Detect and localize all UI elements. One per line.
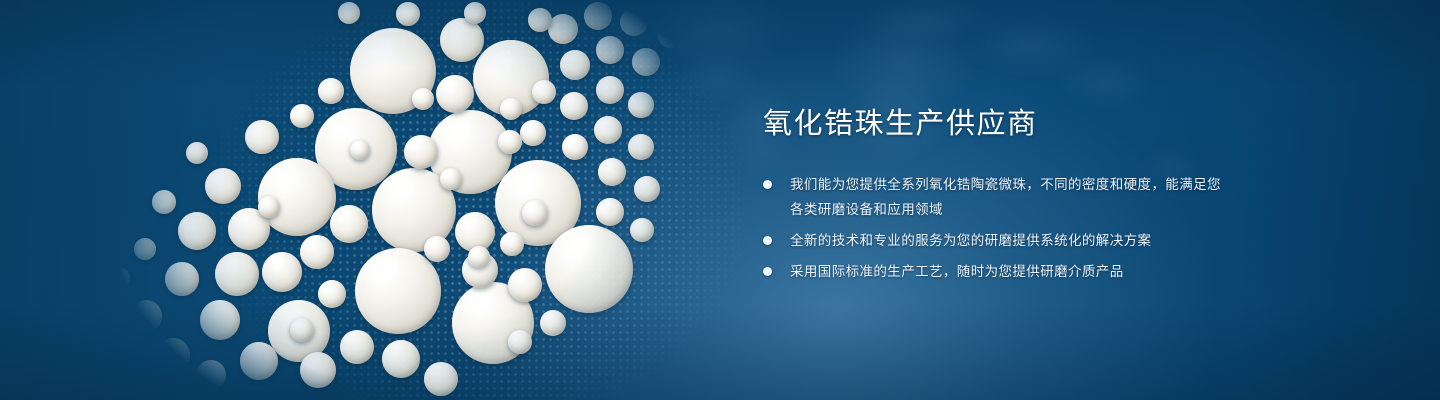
bead [520, 120, 546, 146]
bead [240, 342, 278, 380]
bead [584, 2, 612, 30]
bead [152, 190, 176, 214]
banner-copy: 氧化锆珠生产供应商 我们能为您提供全系列氧化锆陶瓷微珠，不同的密度和硬度，能满足… [763, 104, 1233, 284]
bead [548, 14, 578, 44]
bead [215, 252, 259, 296]
bullet-dot-icon [763, 267, 772, 276]
bead [350, 140, 370, 160]
bead [560, 92, 588, 120]
bead [628, 92, 654, 118]
bead [110, 268, 130, 288]
bead [340, 330, 374, 364]
bead [594, 116, 622, 144]
bead [464, 2, 486, 24]
bead [262, 252, 302, 292]
bead [540, 310, 566, 336]
bead [258, 196, 280, 218]
bead [318, 78, 344, 104]
list-item: 我们能为您提供全系列氧化锆陶瓷微珠，不同的密度和硬度，能满足您各类研磨设备和应用… [763, 172, 1233, 222]
bead [290, 104, 314, 128]
bead [598, 158, 626, 186]
bead [560, 50, 590, 80]
hero-banner: 氧化锆珠生产供应商 我们能为您提供全系列氧化锆陶瓷微珠，不同的密度和硬度，能满足… [0, 0, 1440, 400]
bead [165, 262, 199, 296]
bead [205, 168, 241, 204]
bead [632, 48, 660, 76]
bead [620, 8, 648, 36]
bead [522, 200, 548, 226]
bead [330, 205, 368, 243]
bead [156, 338, 190, 372]
page-title: 氧化锆珠生产供应商 [763, 104, 1233, 144]
bead [508, 330, 532, 354]
bead [468, 246, 490, 268]
feature-list: 我们能为您提供全系列氧化锆陶瓷微珠，不同的密度和硬度，能满足您各类研磨设备和应用… [763, 172, 1233, 284]
list-item-label: 采用国际标准的生产工艺，随时为您提供研磨介质产品 [790, 259, 1233, 284]
bead [562, 134, 588, 160]
bead [245, 120, 279, 154]
bead [196, 360, 226, 390]
bead [300, 352, 336, 388]
bead [382, 340, 420, 378]
bead [134, 238, 156, 260]
bead [396, 2, 420, 26]
bead [628, 134, 654, 160]
bead [338, 2, 360, 24]
bead [508, 268, 542, 302]
list-item: 采用国际标准的生产工艺，随时为您提供研磨介质产品 [763, 259, 1233, 284]
list-item-label: 全新的技术和专业的服务为您的研磨提供系统化的解决方案 [790, 228, 1233, 253]
bead [634, 176, 660, 202]
bead [500, 232, 524, 256]
bead [318, 280, 346, 308]
list-item-label: 我们能为您提供全系列氧化锆陶瓷微珠，不同的密度和硬度，能满足您各类研磨设备和应用… [790, 172, 1233, 222]
bead [500, 98, 522, 120]
bead [596, 36, 624, 64]
bead [130, 300, 162, 332]
bead [440, 18, 484, 62]
bead [186, 142, 208, 164]
bullet-dot-icon [763, 180, 772, 189]
list-item: 全新的技术和专业的服务为您的研磨提供系统化的解决方案 [763, 228, 1233, 253]
bullet-dot-icon [763, 236, 772, 245]
bead [630, 218, 654, 242]
bead [300, 235, 334, 269]
bead [424, 362, 458, 396]
bead [545, 225, 633, 313]
bead [532, 80, 556, 104]
zirconia-beads-photo [0, 0, 760, 400]
bead [596, 198, 624, 226]
bead [596, 76, 624, 104]
bead [528, 8, 552, 32]
bead [404, 135, 438, 169]
bead [498, 130, 522, 154]
bead [658, 22, 684, 48]
bead [290, 318, 314, 342]
bead [355, 248, 441, 334]
bead [200, 300, 240, 340]
bead [412, 88, 434, 110]
bead [178, 212, 216, 250]
bead [436, 75, 474, 113]
bead [424, 236, 450, 262]
bead [440, 168, 462, 190]
